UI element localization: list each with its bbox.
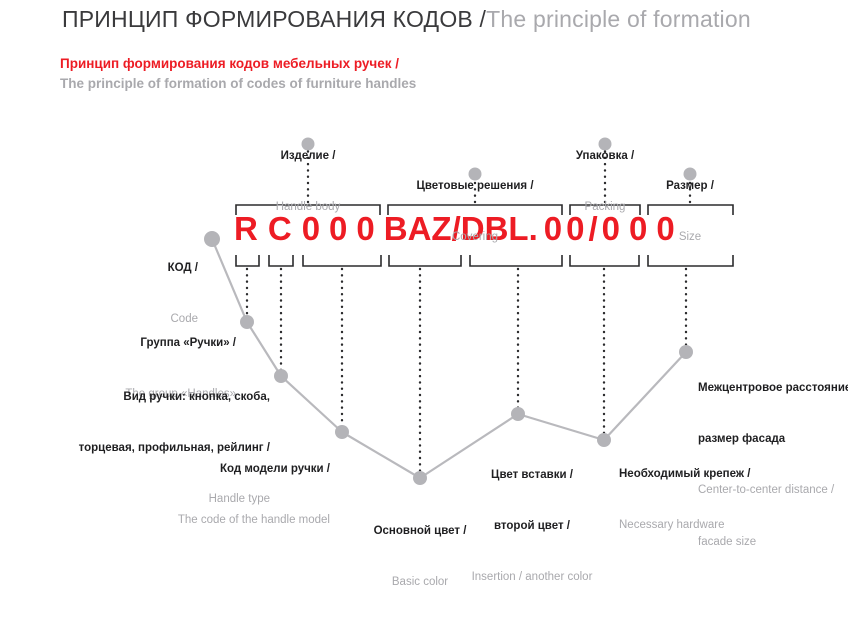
label-handle-body-ru: Изделие / xyxy=(248,150,368,164)
bottom-bracket-seg-c xyxy=(269,255,293,266)
label-covering-ru: Цветовые решения / xyxy=(395,180,555,194)
node-handle-type xyxy=(274,369,288,383)
label-size: Размер / Size xyxy=(640,142,740,282)
label-center-dist-ru-line1: Межцентровое расстояние / xyxy=(698,382,848,396)
label-insertion-ru-line2: второй цвет / xyxy=(462,520,602,534)
label-covering: Цветовые решения / Covering xyxy=(395,142,555,282)
bottom-bracket-seg-000 xyxy=(303,255,381,266)
label-covering-en: Covering xyxy=(395,231,555,245)
code-formation-infographic: ПРИНЦИП ФОРМИРОВАНИЯ КОДОВ /The principl… xyxy=(0,0,848,550)
label-insertion-ru-line1: Цвет вставки / xyxy=(462,469,602,483)
label-center-dist: Межцентровое расстояние / размер фасада … xyxy=(698,344,848,587)
label-size-en: Size xyxy=(640,231,740,245)
label-model-code: Код модели ручки / The code of the handl… xyxy=(140,425,330,565)
label-center-dist-ru-line2: размер фасада xyxy=(698,433,848,447)
label-handle-body: Изделие / Handle body xyxy=(248,112,368,252)
label-handle-body-en: Handle body xyxy=(248,201,368,215)
label-handle-type-ru-line1: Вид ручки: кнопка, скоба, xyxy=(38,391,270,405)
node-insertion xyxy=(511,407,525,421)
node-code xyxy=(204,231,220,247)
label-group-handles-ru: Группа «Ручки» / xyxy=(92,337,236,351)
label-center-dist-en-line1: Center-to-center distance / xyxy=(698,484,848,498)
label-model-code-en: The code of the handle model xyxy=(140,514,330,528)
label-size-ru: Размер / xyxy=(640,180,740,194)
label-insertion-en: Insertion / another color xyxy=(462,571,602,585)
label-code-ru: КОД / xyxy=(96,262,198,276)
node-center-dist xyxy=(679,345,693,359)
node-model-code xyxy=(335,425,349,439)
node-group-handles xyxy=(240,315,254,329)
label-center-dist-en-line2: facade size xyxy=(698,536,848,550)
label-insertion: Цвет вставки / второй цвет / Insertion /… xyxy=(462,431,602,623)
label-model-code-ru: Код модели ручки / xyxy=(140,463,330,477)
bottom-bracket-seg-00 xyxy=(570,255,639,266)
node-basic-color xyxy=(413,471,427,485)
bottom-bracket-seg-r xyxy=(236,255,259,266)
